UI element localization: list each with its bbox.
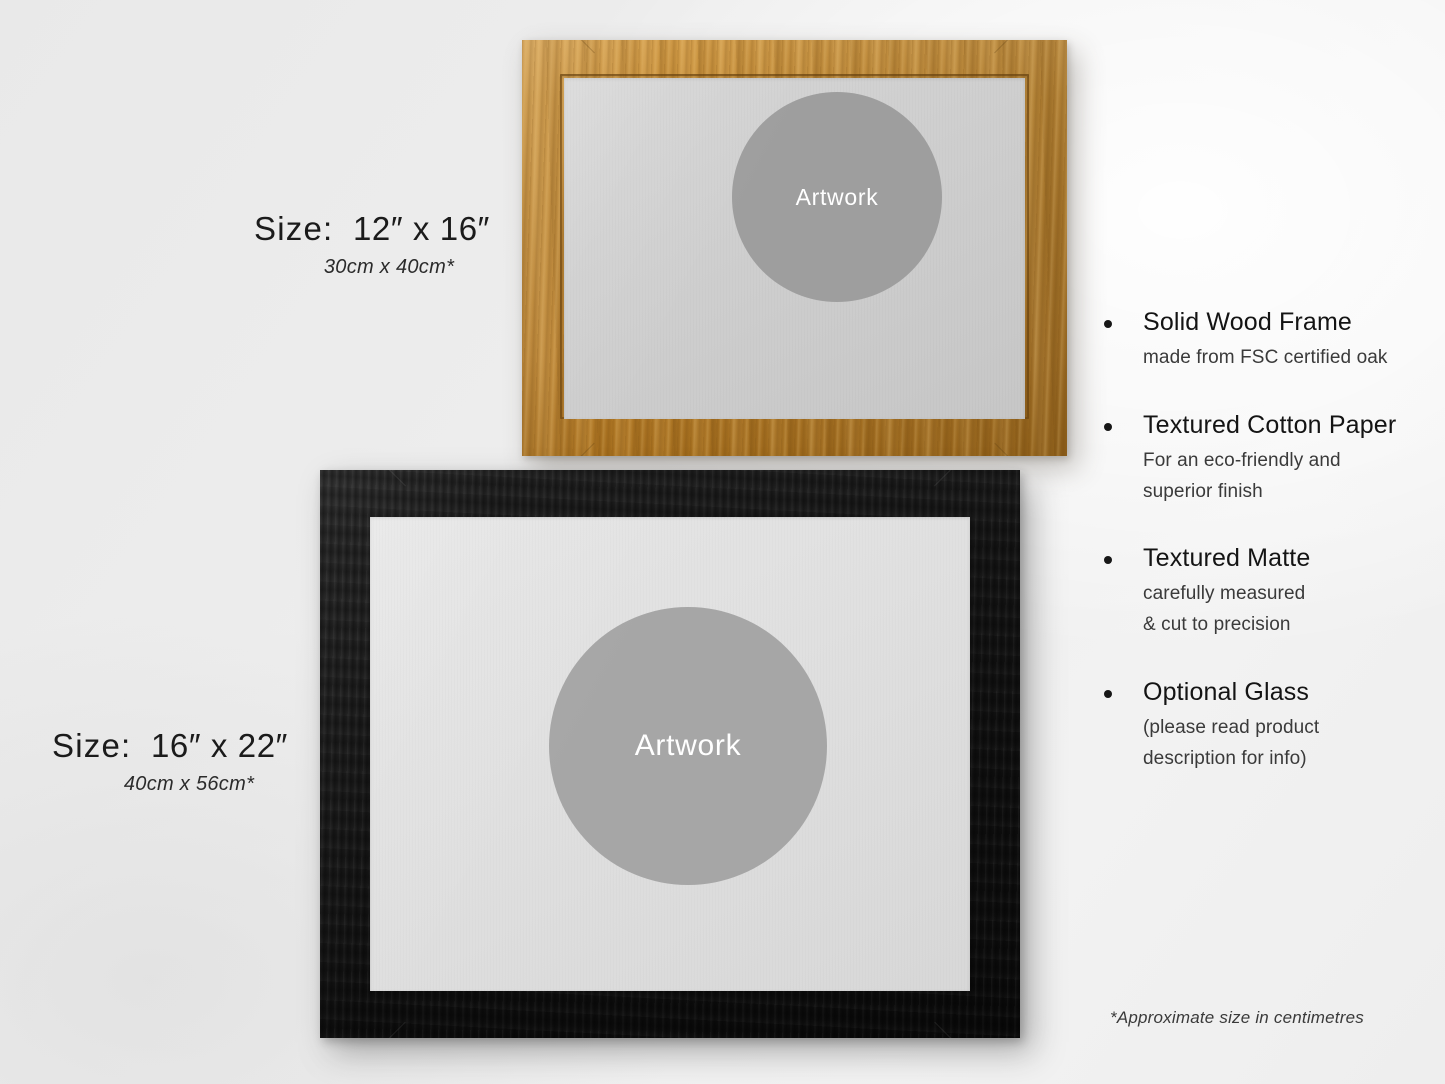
size-label-oak-metric: 30cm x 40cm*	[286, 256, 492, 279]
feature-description-line: made from FSC certified oak	[1143, 343, 1430, 374]
feature-item-solid-wood-frame: Solid Wood Frame made from FSC certified…	[1100, 308, 1430, 374]
feature-title: Textured Cotton Paper	[1143, 411, 1430, 439]
feature-description: (please read product description for inf…	[1100, 713, 1430, 775]
feature-title: Optional Glass	[1143, 678, 1430, 706]
footnote-approximate-size: *Approximate size in centimetres	[1110, 1008, 1364, 1028]
feature-item-optional-glass: Optional Glass (please read product desc…	[1100, 678, 1430, 775]
artwork-placeholder-label: Artwork	[796, 184, 879, 211]
feature-title: Textured Matte	[1143, 544, 1430, 572]
product-infographic-canvas: Artwork Artwork Size: 12″ x 16″ 30cm x 4…	[0, 0, 1445, 1084]
bullet-dot-icon	[1104, 556, 1112, 564]
bullet-dot-icon	[1104, 423, 1112, 431]
black-frame-mount-board: Artwork	[370, 517, 970, 991]
size-label-black: Size: 16″ x 22″ 40cm x 56cm*	[50, 729, 290, 796]
size-label-black-inches: 16″ x 22″	[151, 727, 288, 764]
feature-list: Solid Wood Frame made from FSC certified…	[1100, 308, 1430, 774]
picture-frame-oak[interactable]: Artwork	[522, 40, 1067, 456]
bullet-dot-icon	[1104, 690, 1112, 698]
feature-title: Solid Wood Frame	[1143, 308, 1430, 336]
picture-frame-black[interactable]: Artwork	[320, 470, 1020, 1038]
feature-description-line: (please read product	[1143, 713, 1430, 744]
bullet-dot-icon	[1104, 320, 1112, 328]
oak-frame-mount-board: Artwork	[564, 78, 1025, 419]
feature-description-line: superior finish	[1143, 477, 1430, 508]
size-label-oak-imperial: Size: 12″ x 16″	[252, 212, 492, 247]
feature-item-textured-matte: Textured Matte carefully measured & cut …	[1100, 544, 1430, 641]
size-label-oak-prefix: Size:	[254, 210, 333, 247]
artwork-placeholder-label: Artwork	[635, 729, 742, 763]
feature-description: For an eco-friendly and superior finish	[1100, 446, 1430, 508]
feature-description: carefully measured & cut to precision	[1100, 579, 1430, 641]
feature-item-textured-cotton-paper: Textured Cotton Paper For an eco-friendl…	[1100, 411, 1430, 508]
artwork-placeholder-oak: Artwork	[732, 92, 942, 302]
feature-description: made from FSC certified oak	[1100, 343, 1430, 374]
feature-description-line: description for info)	[1143, 744, 1430, 775]
feature-description-line: For an eco-friendly and	[1143, 446, 1430, 477]
size-label-oak: Size: 12″ x 16″ 30cm x 40cm*	[252, 212, 492, 279]
artwork-placeholder-black: Artwork	[549, 607, 827, 885]
size-label-black-prefix: Size:	[52, 727, 131, 764]
size-label-black-metric: 40cm x 56cm*	[88, 773, 290, 796]
feature-description-line: carefully measured	[1143, 579, 1430, 610]
size-label-black-imperial: Size: 16″ x 22″	[50, 729, 290, 764]
feature-description-line: & cut to precision	[1143, 610, 1430, 641]
size-label-oak-inches: 12″ x 16″	[353, 210, 490, 247]
